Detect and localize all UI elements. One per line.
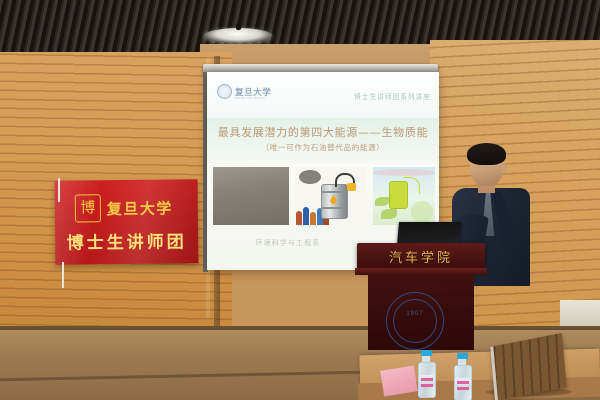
university-name-cn: 复旦大学 [235, 86, 271, 98]
sky-swoosh [373, 169, 435, 176]
banner-team-name: 博士生讲师团 [55, 227, 198, 253]
podium-title: 汽车学院 [357, 247, 485, 266]
university-crest-icon: 1907 [386, 292, 444, 350]
fudan-seal-icon [217, 84, 232, 99]
banner-cord-bottom [62, 262, 64, 288]
lecture-hall-photo: 复旦大学 FUDAN UNIVERSITY 博士生讲师团系列讲座 最具发展潜力的… [0, 0, 600, 400]
green-fuel-pump-graphic [373, 167, 435, 225]
drum-band-top [321, 191, 346, 193]
slide-image-row [213, 167, 435, 229]
podium-header: 汽车学院 [357, 243, 485, 270]
red-banner: 博 复旦大学 博士生讲师团 [55, 179, 199, 264]
presenter-laptop[interactable] [397, 222, 461, 245]
lecture-series-label: 博士生讲师团系列讲座 [354, 91, 431, 101]
bottle-label [419, 375, 435, 386]
banner-cord-left [58, 178, 60, 202]
water-bottle-2[interactable] [454, 353, 470, 400]
landscape-photo [213, 167, 289, 225]
drum-band-bottom [321, 207, 346, 209]
leaf-icon-1 [375, 197, 389, 206]
leaf-icon-2 [381, 209, 397, 219]
speaker-hair [467, 143, 506, 165]
globe-icon [411, 201, 433, 223]
crest-year: 1907 [387, 311, 443, 317]
bottle-body [418, 362, 436, 398]
university-name-en: FUDAN UNIVERSITY [234, 97, 267, 100]
water-bottle-1[interactable] [418, 350, 434, 398]
oil-barrel-illustration [295, 167, 367, 225]
banner-seal-icon: 博 [75, 194, 101, 222]
slide-subtitle: （唯一可作为石油替代品的能源） [213, 142, 433, 153]
podium-body: 1907 [368, 274, 474, 350]
banner-university-name: 复旦大学 [107, 198, 173, 220]
slide-title: 最具发展潜力的第四大能源——生物质能 [213, 124, 433, 140]
bottle-body [454, 365, 472, 400]
pendant-light-2 [204, 28, 272, 43]
drum-handle [347, 183, 356, 191]
pump-hose-icon [403, 177, 420, 194]
bottle-label [455, 378, 471, 389]
smoke-cloud-icon [299, 170, 321, 184]
department-label: 环境科学与工程系 [213, 238, 363, 248]
speaker-ear [500, 163, 507, 174]
pink-handout[interactable] [380, 366, 418, 397]
